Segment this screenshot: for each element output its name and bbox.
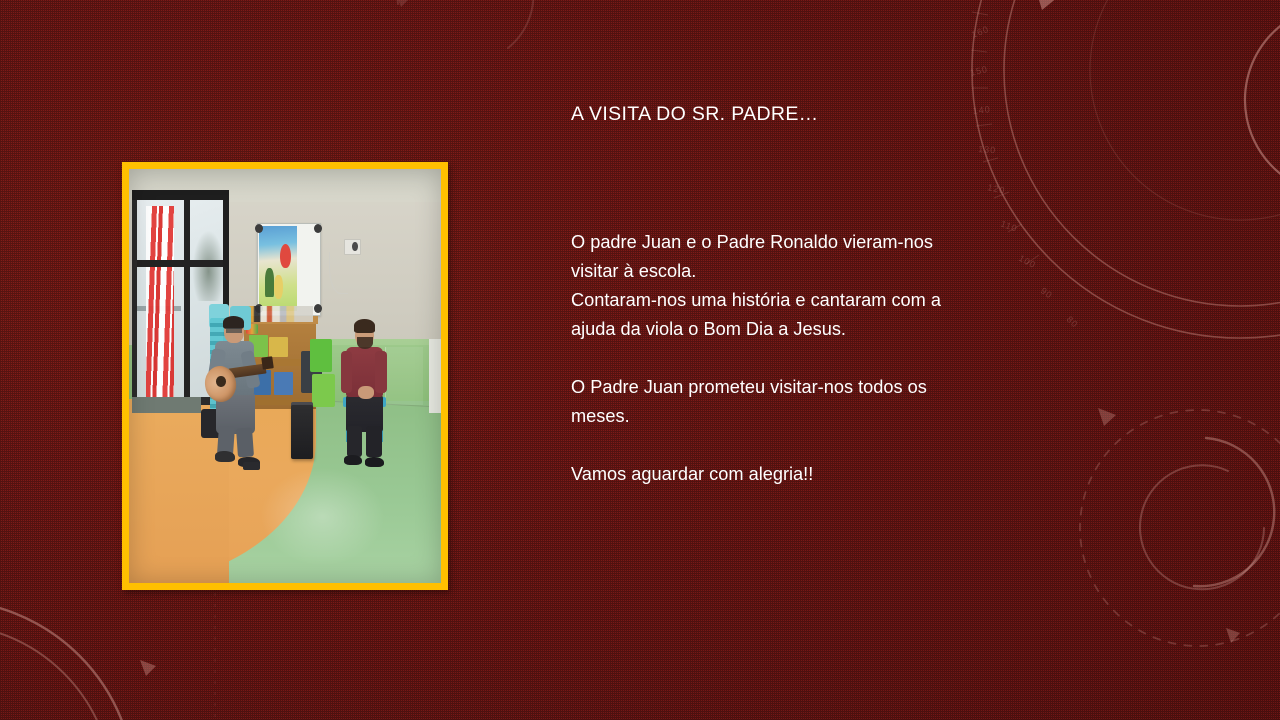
paragraph-gap-2 — [571, 431, 1041, 460]
body-line-3: Contaram-nos uma história e cantaram com… — [571, 286, 1041, 315]
body-line-6: meses. — [571, 402, 1041, 431]
slide-body-text: O padre Juan e o Padre Ronaldo vieram-no… — [571, 228, 1041, 489]
paragraph-gap-1 — [571, 344, 1041, 373]
slide-title: A VISITA DO SR. PADRE… — [571, 103, 1131, 126]
body-line-2: visitar à escola. — [571, 257, 1041, 286]
body-line-5: O Padre Juan prometeu visitar-nos todos … — [571, 373, 1041, 402]
slide-canvas: 210 200 190 180 170 160 150 140 130 120 … — [0, 0, 1280, 720]
classroom-photo — [129, 169, 441, 583]
photo-frame[interactable] — [122, 162, 448, 590]
body-line-4: ajuda da viola o Bom Dia a Jesus. — [571, 315, 1041, 344]
body-line-7: Vamos aguardar com alegria!! — [571, 460, 1041, 489]
body-line-1: O padre Juan e o Padre Ronaldo vieram-no… — [571, 228, 1041, 257]
photo-vignette — [129, 169, 441, 583]
